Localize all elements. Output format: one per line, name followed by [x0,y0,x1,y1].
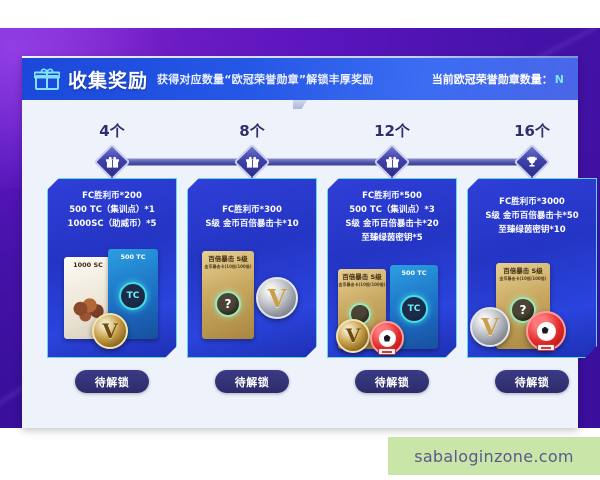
reward-line: FC胜利币*3000 [472,195,592,209]
gift-icon [34,67,60,91]
football-key-icon [370,321,404,355]
v-coin-icon: V [336,319,370,353]
gift-box-icon [101,151,123,173]
reward-line: 至臻绿茵密钥*10 [472,223,592,237]
tc-token-icon: TC [119,282,147,310]
v-coin-icon: V [470,307,510,347]
gold-pack-sub: 金币暴击卡(10倍/100倍) [338,281,386,289]
key-tag-icon [537,344,555,351]
tc-pack-label: 500 TC [390,265,438,292]
reward-card-4-art: 百倍暴击 S级 金币暴击卡(10倍/100倍) ? V [468,261,596,353]
gold-pack-label: 百倍暴击 S级 金币暴击卡(10倍/100倍) [338,269,386,295]
reward-card-2[interactable]: FC胜利币*300 S级 金币百倍暴击卡*10 百倍暴击 S级 金币暴击卡(10… [187,178,317,358]
panel-subtitle: 获得对应数量“欧冠荣誉勋章”解锁丰厚奖励 [157,71,373,87]
v-coin-icon: V [92,313,128,349]
panel-title: 收集奖励 [68,66,148,93]
reward-line: S级 金币百倍暴击卡*50 [472,209,592,223]
panel-header: 收集奖励 获得对应数量“欧冠荣誉勋章”解锁丰厚奖励 当前欧冠荣誉勋章数量：N [22,58,578,100]
reward-card-4-text: FC胜利币*3000 S级 金币百倍暴击卡*50 至臻绿茵密钥*10 [468,195,596,237]
reward-line: 至臻绿茵密钥*5 [332,231,452,245]
unlock-button-1[interactable]: 待解锁 [75,370,149,393]
screenshot-root: 收集奖励 获得对应数量“欧冠荣誉勋章”解锁丰厚奖励 当前欧冠荣誉勋章数量：N 4… [0,0,600,480]
reward-line: FC胜利币*300 [192,203,312,217]
reward-card-4[interactable]: FC胜利币*3000 S级 金币百倍暴击卡*50 至臻绿茵密钥*10 百倍暴击 … [467,178,597,358]
gold-pack-label: 百倍暴击 S级 金币暴击卡(10倍/100倍) [496,263,550,291]
gold-pack-image: 百倍暴击 S级 金币暴击卡(10倍/100倍) ? [202,251,254,339]
football-key-icon [526,311,566,351]
rail-segment [392,159,532,166]
reward-card-3-text: FC胜利币*500 500 TC（集训点）*3 S级 金币百倍暴击卡*20 至臻… [328,189,456,245]
milestone-label-2: 8个 [239,120,264,141]
medal-counter-label: 当前欧冠荣誉勋章数量： [432,73,553,86]
milestone-label-3: 12个 [374,120,410,141]
rail-segment [252,159,392,166]
key-tag-icon [378,348,396,355]
reward-cards: FC胜利币*200 500 TC（集训点）*1 1000SC（助威币）*5 10… [22,178,578,428]
reward-line: S级 金币百倍暴击卡*20 [332,217,452,231]
reward-line: 500 TC（集训点）*3 [332,203,452,217]
gold-pack-label: 百倍暴击 S级 金币暴击卡(10倍/100倍) [202,251,254,279]
football-icon [537,322,556,341]
medal-counter: 当前欧冠荣誉勋章数量：N [432,71,564,87]
sc-pack-label: 1000 SC [64,257,112,283]
tc-token-icon: TC [400,295,428,323]
trophy-icon [521,151,543,173]
unlock-button-2[interactable]: 待解锁 [215,370,289,393]
gold-pack-title: 百倍暴击 S级 [342,273,381,281]
reward-line: 1000SC（助威币）*5 [52,217,172,231]
reward-card-2-text: FC胜利币*300 S级 金币百倍暴击卡*10 [188,203,316,231]
reward-card-1-text: FC胜利币*200 500 TC（集训点）*1 1000SC（助威币）*5 [48,189,176,231]
reward-card-2-art: 百倍暴击 S级 金币暴击卡(10倍/100倍) ? V [188,245,316,353]
reward-card-1-art: 1000 SC 500 TC TC V [48,245,176,353]
milestone-label-1: 4个 [99,120,124,141]
milestone-label-4: 16个 [514,120,550,141]
tc-pack-label: 500 TC [108,249,158,278]
gold-pack-sub: 金币暴击卡(10倍/100倍) [496,275,550,283]
milestone-node-4[interactable] [514,144,551,181]
milestone-rail: 4个 8个 12个 16个 [22,100,578,172]
rail-segment [112,159,252,166]
reward-card-3[interactable]: FC胜利币*500 500 TC（集训点）*3 S级 金币百倍暴击卡*20 至臻… [327,178,457,358]
reward-card-1[interactable]: FC胜利币*200 500 TC（集训点）*1 1000SC（助威币）*5 10… [47,178,177,358]
unlock-button-3[interactable]: 待解锁 [355,370,429,393]
reward-line: FC胜利币*500 [332,189,452,203]
unlock-button-4[interactable]: 待解锁 [495,370,569,393]
gold-pack-title: 百倍暴击 S级 [503,267,542,275]
milestone-node-2[interactable] [234,144,271,181]
watermark: sabaloginzone.com [388,437,600,475]
v-coin-icon: V [256,277,298,319]
mystery-orb-icon: ? [215,291,241,317]
gold-pack-title: 百倍暴击 S级 [208,255,247,263]
milestone-node-3[interactable] [374,144,411,181]
gift-box-icon [241,151,263,173]
gift-box-icon [381,151,403,173]
reward-line: FC胜利币*200 [52,189,172,203]
reward-line: 500 TC（集训点）*1 [52,203,172,217]
reward-card-3-art: 百倍暴击 S级 金币暴击卡(10倍/100倍) 500 TC TC V [328,265,456,353]
rewards-panel: 收集奖励 获得对应数量“欧冠荣誉勋章”解锁丰厚奖励 当前欧冠荣誉勋章数量：N 4… [22,58,578,428]
reward-line: S级 金币百倍暴击卡*10 [192,217,312,231]
football-icon [379,330,396,347]
milestone-node-1[interactable] [94,144,131,181]
medal-counter-value: N [555,73,564,86]
gold-pack-sub: 金币暴击卡(10倍/100倍) [202,263,254,271]
